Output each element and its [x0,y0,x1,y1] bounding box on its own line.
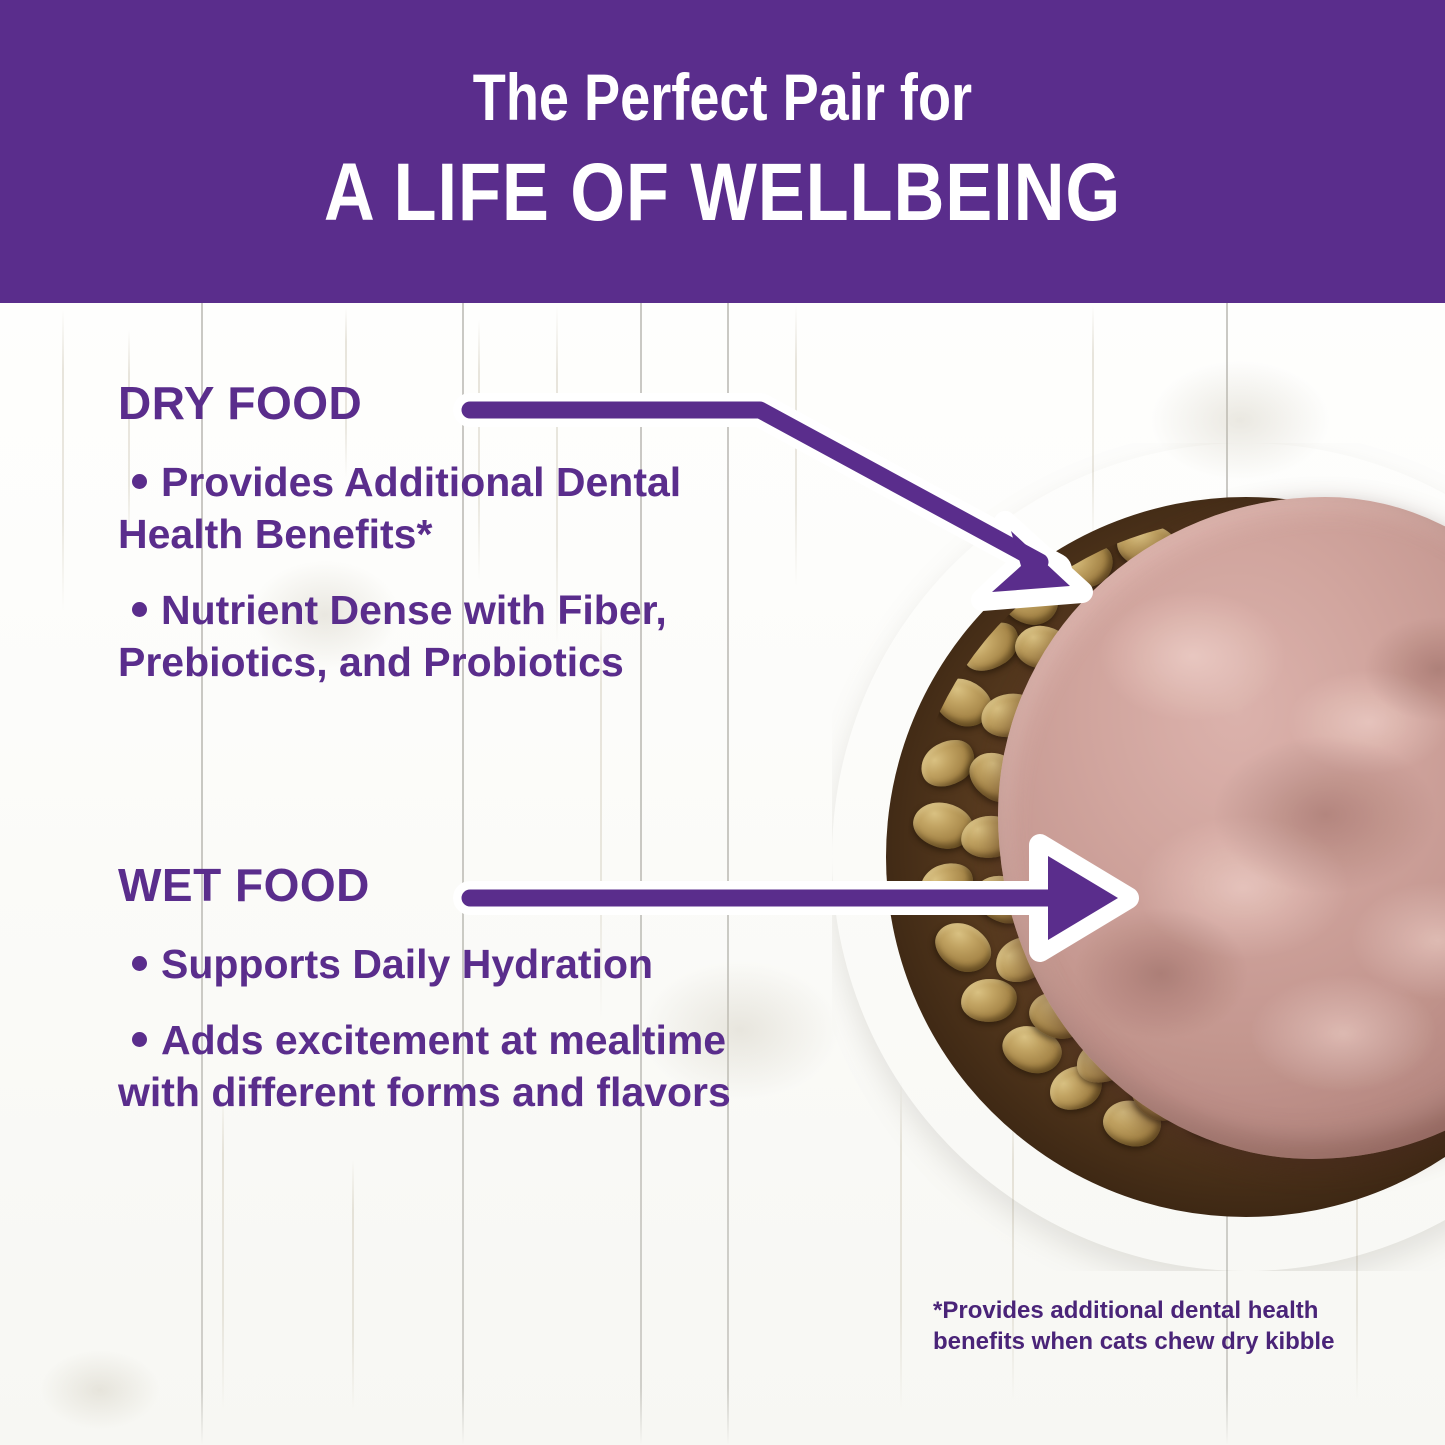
wood-knot [40,1350,160,1430]
kibble-piece [915,856,980,913]
bullet-text: Nutrient Dense with Fiber, Prebiotics, a… [118,587,667,685]
stainless-bowl [832,443,1445,1271]
list-item: Nutrient Dense with Fiber, Prebiotics, a… [118,584,738,688]
bullet-dot-icon [132,474,147,489]
pate-texture [1098,590,1287,722]
dry-food-section: DRY FOOD Provides Additional Dental Heal… [118,380,778,712]
bullet-dot-icon [132,956,147,971]
wood-grain [62,310,64,610]
list-item: Adds excitement at mealtime with differe… [118,1014,738,1118]
header-title-line-2: A LIFE OF WELLBEING [324,152,1121,234]
wood-grain [352,1160,354,1410]
pate-shadow [1212,735,1439,894]
wet-food-bullet-list: Supports Daily Hydration Adds excitement… [118,938,778,1118]
bullet-dot-icon [132,602,147,617]
dry-food-bullet-list: Provides Additional Dental Health Benefi… [118,456,778,688]
list-item: Provides Additional Dental Health Benefi… [118,456,738,560]
infographic-canvas: The Perfect Pair for A LIFE OF WELLBEING… [0,0,1445,1445]
kibble-piece [926,914,999,981]
dry-food-heading: DRY FOOD [118,380,778,426]
header-banner: The Perfect Pair for A LIFE OF WELLBEING [0,0,1445,303]
bullet-text: Adds excitement at mealtime with differe… [118,1017,731,1115]
bullet-text: Supports Daily Hydration [161,941,653,987]
pet-food-bowl-photo [832,443,1445,1271]
kibble-piece [959,976,1019,1025]
wet-food-heading: WET FOOD [118,862,778,908]
pate-texture [1249,974,1438,1093]
footnote-line-2: benefits when cats chew dry kibble [933,1327,1363,1358]
wet-food-section: WET FOOD Supports Daily Hydration Adds e… [118,862,778,1142]
footnote: *Provides additional dental health benef… [933,1296,1363,1357]
header-title-line-1: The Perfect Pair for [473,64,972,130]
footnote-line-1: *Provides additional dental health [933,1296,1363,1327]
bullet-dot-icon [132,1032,147,1047]
list-item: Supports Daily Hydration [118,938,738,990]
bullet-text: Provides Additional Dental Health Benefi… [118,459,681,557]
wood-grain [795,306,797,586]
kibble-piece [997,572,1062,630]
pate-shadow [1073,907,1249,1039]
